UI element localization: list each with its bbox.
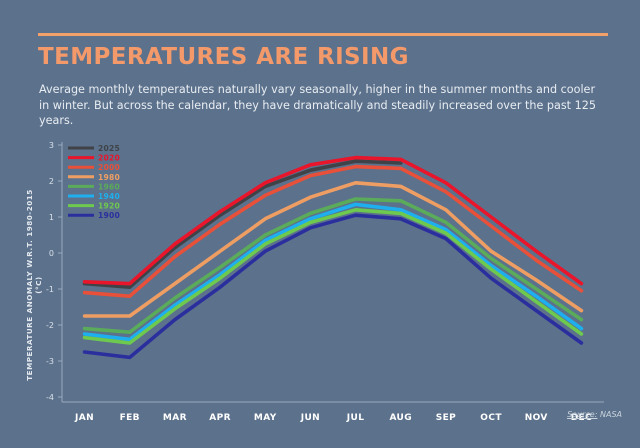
x-axis-month-label: JAN <box>74 413 94 423</box>
title-divider-rule <box>38 33 608 36</box>
legend-label-2000[interactable]: 2000 <box>98 163 120 172</box>
chart-container: -4-3-2-10123JANFEBMARAPRMAYJUNJULAUGSEPO… <box>0 126 640 426</box>
legend-label-1900[interactable]: 1900 <box>98 211 120 220</box>
x-axis-month-label: MAY <box>254 413 277 423</box>
x-axis-month-label: JUN <box>300 413 320 423</box>
legend-label-1980[interactable]: 1980 <box>98 173 120 182</box>
legend-label-2025[interactable]: 2025 <box>98 144 120 153</box>
source-value: NASA <box>600 410 622 419</box>
x-axis-month-label: MAR <box>163 413 187 423</box>
legend-label-1960[interactable]: 1960 <box>98 182 120 191</box>
source-label: Source: <box>567 410 597 419</box>
y-axis-tick-label: -2 <box>46 321 54 330</box>
y-axis-tick-label: -3 <box>46 357 54 366</box>
page-title: TEMPERATURES ARE RISING <box>38 44 409 70</box>
source-note: Source: NASA <box>567 410 622 419</box>
x-axis-month-label: SEP <box>436 413 456 423</box>
legend-label-1920[interactable]: 1920 <box>98 202 120 211</box>
y-axis-tick-label: 1 <box>49 213 54 222</box>
infographic-page: TEMPERATURES ARE RISING Average monthly … <box>0 0 640 448</box>
y-axis-title: TEMPERATURE ANOMALY W.R.T. 1980-2015 (°C… <box>25 185 43 385</box>
x-axis-month-label: AUG <box>389 413 412 423</box>
legend-label-1940[interactable]: 1940 <box>98 192 120 201</box>
y-axis-tick-label: 2 <box>49 177 54 186</box>
y-axis-tick-label: -1 <box>46 285 54 294</box>
x-axis-month-label: OCT <box>480 413 502 423</box>
x-axis-month-label: APR <box>209 413 231 423</box>
series-line-1960 <box>85 199 582 332</box>
y-axis-tick-label: 3 <box>49 141 54 150</box>
series-line-1980 <box>85 183 582 316</box>
y-axis-tick-label: 0 <box>49 249 54 258</box>
legend-label-2020[interactable]: 2020 <box>98 154 120 163</box>
x-axis-month-label: FEB <box>120 413 140 423</box>
page-subtitle: Average monthly temperatures naturally v… <box>39 82 599 129</box>
x-axis-month-label: JUL <box>346 413 365 423</box>
x-axis-month-label: NOV <box>525 413 548 423</box>
line-chart: -4-3-2-10123JANFEBMARAPRMAYJUNJULAUGSEPO… <box>0 126 640 426</box>
y-axis-tick-label: -4 <box>46 393 54 402</box>
